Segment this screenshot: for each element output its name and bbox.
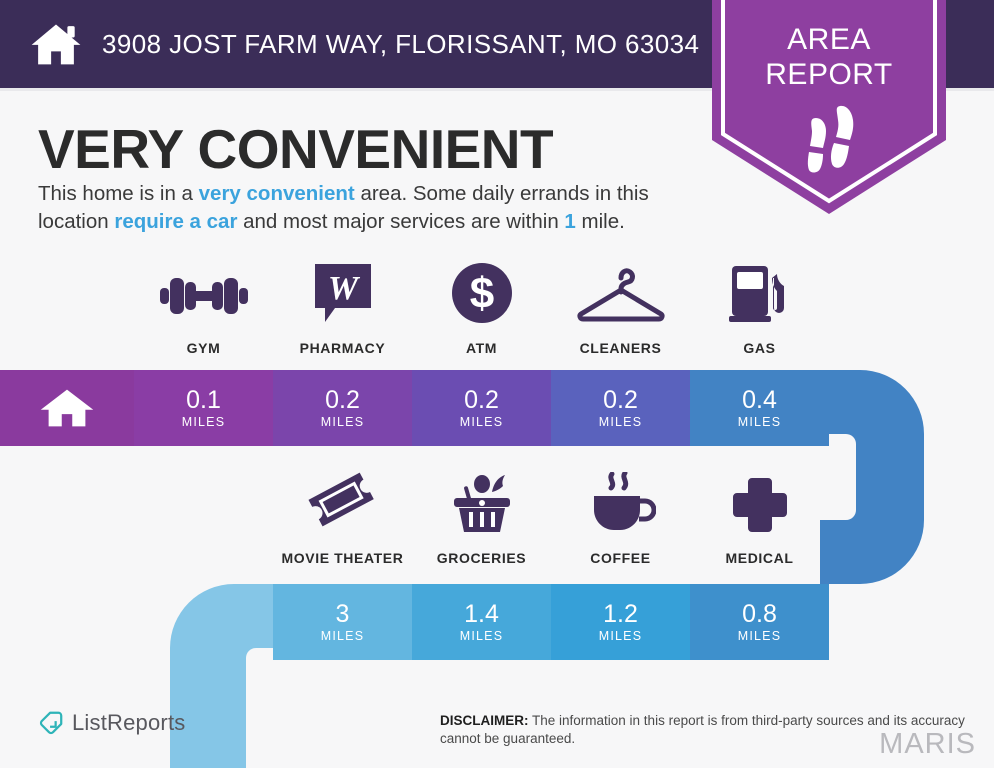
listreports-wordmark: ListReports — [72, 710, 185, 736]
banner-title-line2: REPORT — [712, 57, 946, 92]
listreports-logo: ListReports — [38, 710, 185, 736]
distance-cell-gas: 0.4 MILES — [690, 370, 829, 446]
banner-title-line1: AREA — [712, 22, 946, 57]
amenity-label: MEDICAL — [726, 550, 794, 566]
summary-highlight-3: 1 — [564, 210, 575, 233]
property-address: 3908 JOST FARM WAY, FLORISSANT, MO 63034 — [102, 29, 699, 60]
amenity-gas: GAS — [690, 262, 829, 356]
amenity-medical: MEDICAL — [690, 472, 829, 566]
distance-value: 0.8 — [742, 601, 777, 628]
area-report-page: 3908 JOST FARM WAY, FLORISSANT, MO 63034… — [0, 0, 994, 768]
distance-unit: MILES — [321, 415, 365, 429]
hanger-icon — [575, 262, 667, 324]
origin-marker — [0, 370, 134, 446]
walgreens-w-icon: W — [313, 262, 373, 324]
amenity-atm: $ ATM — [412, 262, 551, 356]
dollar-circle-icon: $ — [451, 262, 513, 324]
distance-cell-pharmacy: 0.2 MILES — [273, 370, 412, 446]
distance-unit: MILES — [738, 629, 782, 643]
distance-cell-movie-theater: 3 MILES — [273, 584, 412, 660]
summary-highlight-1: very convenient — [199, 182, 355, 205]
summary-highlight-2: require a car — [114, 210, 237, 233]
amenity-label: GROCERIES — [437, 550, 526, 566]
distance-unit: MILES — [599, 629, 643, 643]
amenity-label: PHARMACY — [300, 340, 386, 356]
distance-cell-atm: 0.2 MILES — [412, 370, 551, 446]
distance-value: 0.1 — [186, 387, 221, 414]
distance-value: 3 — [336, 601, 350, 628]
distance-cell-medical: 0.8 MILES — [690, 584, 829, 660]
banner-title: AREA REPORT — [712, 22, 946, 92]
amenity-label: ATM — [466, 340, 497, 356]
distance-bar-row-1: 0.1 MILES 0.2 MILES 0.2 MILES 0.2 MILES … — [134, 370, 829, 446]
amenity-label: CLEANERS — [580, 340, 662, 356]
distance-unit: MILES — [460, 629, 504, 643]
summary-part-1: This home is in a — [38, 182, 199, 205]
amenity-gym: GYM — [134, 262, 273, 356]
amenity-label: COFFEE — [590, 550, 650, 566]
summary-part-4: mile. — [576, 210, 625, 233]
distance-value: 0.2 — [464, 387, 499, 414]
distance-value: 0.4 — [742, 387, 777, 414]
distance-cell-gym: 0.1 MILES — [134, 370, 273, 446]
dumbbell-icon — [158, 262, 250, 324]
area-report-banner: AREA REPORT — [712, 0, 946, 214]
fuel-pump-icon — [728, 262, 792, 324]
distance-value: 1.4 — [464, 601, 499, 628]
ticket-icon — [308, 472, 378, 534]
amenity-cleaners: CLEANERS — [551, 262, 690, 356]
distance-unit: MILES — [321, 629, 365, 643]
amenity-coffee: COFFEE — [551, 472, 690, 566]
distance-cell-cleaners: 0.2 MILES — [551, 370, 690, 446]
house-icon — [39, 386, 95, 430]
listreports-house-tag-icon — [38, 710, 64, 736]
distance-value: 1.2 — [603, 601, 638, 628]
coffee-cup-icon — [586, 472, 656, 534]
amenity-icons-row-1: GYM W PHARMACY $ ATM — [134, 262, 854, 356]
house-icon — [30, 18, 82, 70]
svg-text:W: W — [327, 270, 360, 307]
distance-unit: MILES — [460, 415, 504, 429]
maris-watermark: MARIS — [879, 728, 976, 761]
summary-part-3: and most major services are within — [237, 210, 564, 233]
medical-cross-icon — [731, 472, 789, 534]
distance-bar-row-2: 3 MILES 1.4 MILES 1.2 MILES 0.8 MILES — [273, 584, 829, 660]
amenity-movie-theater: MOVIE THEATER — [273, 472, 412, 566]
distance-cell-coffee: 1.2 MILES — [551, 584, 690, 660]
distance-cell-groceries: 1.4 MILES — [412, 584, 551, 660]
distance-unit: MILES — [738, 415, 782, 429]
svg-text:$: $ — [469, 269, 493, 318]
amenity-pharmacy: W PHARMACY — [273, 262, 412, 356]
grocery-basket-icon — [448, 472, 516, 534]
distance-unit: MILES — [599, 415, 643, 429]
amenity-label: GAS — [743, 340, 775, 356]
disclaimer-label: DISCLAIMER: — [440, 713, 529, 728]
ribbon-turn-left — [170, 584, 274, 768]
distance-unit: MILES — [182, 415, 226, 429]
summary-text: This home is in a very convenient area. … — [38, 180, 706, 236]
amenity-icons-row-2: MOVIE THEATER — [273, 472, 853, 566]
amenity-label: MOVIE THEATER — [282, 550, 404, 566]
distance-value: 0.2 — [603, 387, 638, 414]
amenity-groceries: GROCERIES — [412, 472, 551, 566]
amenity-label: GYM — [187, 340, 221, 356]
distance-value: 0.2 — [325, 387, 360, 414]
page-title: VERY CONVENIENT — [38, 118, 553, 180]
